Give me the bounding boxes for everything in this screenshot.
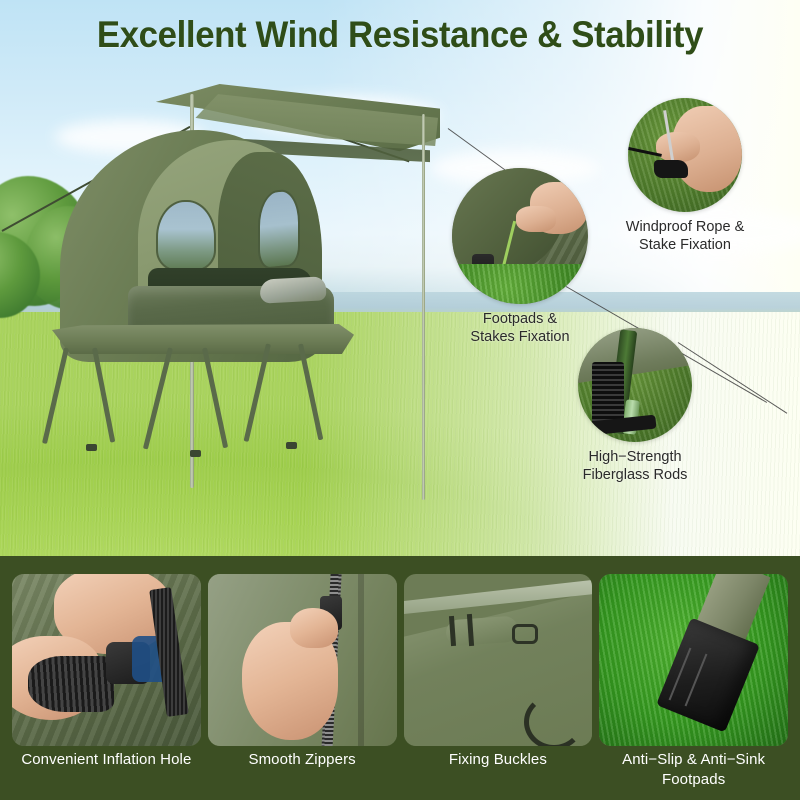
callout-fiberglass-rods: High−Strength Fiberglass Rods (578, 328, 692, 442)
caption-line1: Anti−Slip & Anti−Sink (599, 750, 788, 770)
fabric-seam (358, 574, 364, 746)
caption-smooth-zippers: Smooth Zippers (208, 750, 397, 796)
hero-scene: Footpads & Stakes Fixation Windproof Rop… (0, 0, 800, 556)
callout-footpads-stakes: Footpads & Stakes Fixation (452, 168, 588, 304)
callout-label-line2: Stakes Fixation (470, 328, 569, 346)
caption-line1: Fixing Buckles (404, 750, 593, 770)
support-pole (422, 114, 425, 500)
caption-inflation-hole: Convenient Inflation Hole (12, 750, 201, 796)
caption-fixing-buckles: Fixing Buckles (404, 750, 593, 796)
pillow (259, 276, 326, 303)
caption-antislip-footpads: Anti−Slip & Anti−Sink Footpads (599, 750, 788, 796)
feature-panel-fixing-buckles[interactable] (404, 574, 593, 746)
poster-root: Footpads & Stakes Fixation Windproof Rop… (0, 0, 800, 800)
callout-label-line1: High−Strength (583, 448, 688, 466)
rope-tensioner (654, 160, 688, 178)
callout-photo-windproof (628, 98, 742, 212)
tent-window-right (258, 188, 300, 270)
cot-leg (143, 347, 173, 449)
callout-label-line1: Footpads & (470, 310, 569, 328)
footpad (190, 450, 201, 457)
photo-grass-bottom (452, 264, 588, 304)
tent-window-left (156, 200, 216, 272)
feature-strip: Convenient Inflation Hole Smooth Zippers… (0, 556, 800, 800)
feature-panel-inflation-hole[interactable] (12, 574, 201, 746)
thumb-shape (290, 608, 338, 648)
feature-panel-antislip-footpads[interactable] (599, 574, 788, 746)
page-title: Excellent Wind Resistance & Stability (24, 14, 776, 56)
callout-photo-fiberglass (578, 328, 692, 442)
feature-caption-row: Convenient Inflation Hole Smooth Zippers… (12, 750, 788, 796)
finger-shape (656, 132, 700, 162)
caption-line1: Convenient Inflation Hole (12, 750, 201, 770)
callout-label-line2: Fiberglass Rods (583, 466, 688, 484)
caption-line1: Smooth Zippers (208, 750, 397, 770)
caption-line2: Footpads (599, 770, 788, 790)
tent-cot-product (30, 72, 430, 492)
feature-panel-smooth-zippers[interactable] (208, 574, 397, 746)
feature-panel-row (12, 574, 788, 746)
callout-windproof-rope: Windproof Rope & Stake Fixation (628, 98, 742, 212)
finger-shape (516, 206, 556, 232)
footpad (286, 442, 297, 449)
footpad (86, 444, 97, 451)
callout-photo-footpads (452, 168, 588, 304)
callout-label-line2: Stake Fixation (626, 236, 744, 254)
elastic-cord (524, 694, 584, 746)
cot-leg (202, 347, 228, 448)
callout-label-line1: Windproof Rope & (626, 218, 744, 236)
black-footpad (592, 362, 624, 424)
pump-hose (28, 656, 114, 712)
cot-leg (42, 347, 69, 444)
buckle-ring (512, 624, 538, 644)
cot-leg (298, 343, 323, 440)
